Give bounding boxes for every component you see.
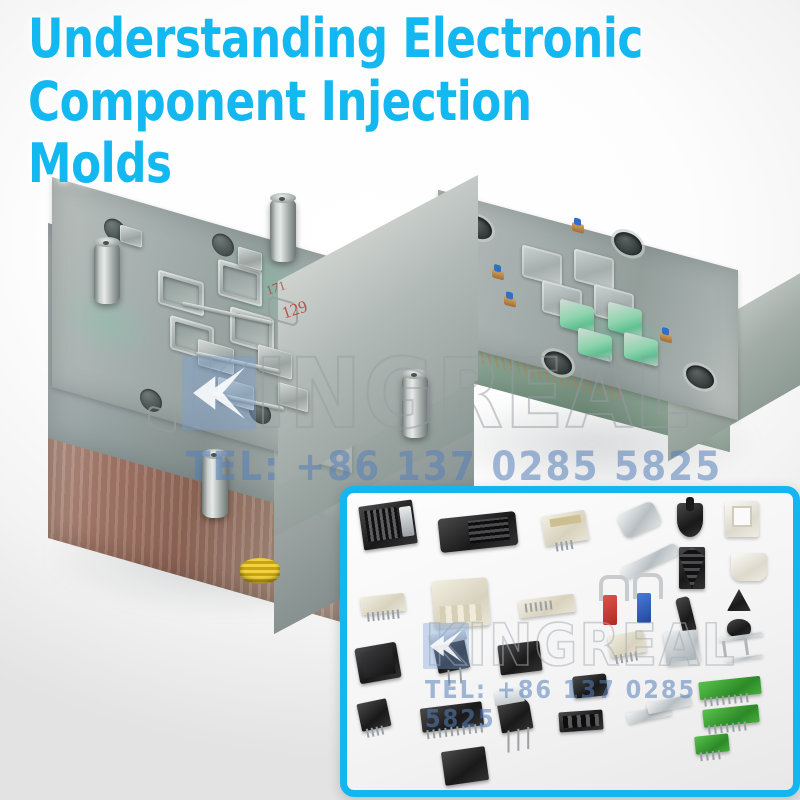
to-263-power-transistor-icon bbox=[432, 634, 470, 674]
black-smd-package-icon bbox=[497, 641, 542, 676]
guide-bushing-bore bbox=[686, 362, 714, 392]
page-title: Understanding Electronic Component Injec… bbox=[28, 8, 685, 196]
mold-slider bbox=[258, 344, 292, 380]
black-christmas-tree-fastener-icon bbox=[679, 547, 705, 589]
ivory-right-angle-header-icon bbox=[541, 510, 589, 547]
black-push-rivet-icon bbox=[677, 503, 703, 537]
sop-small-outline-ic-icon bbox=[356, 698, 391, 732]
to-220-voltage-regulator-icon bbox=[496, 696, 533, 733]
mold-core-insert bbox=[624, 332, 658, 367]
black-3-pin-housing-icon bbox=[558, 709, 603, 732]
black-multi-pin-connector-icon bbox=[358, 499, 418, 550]
ivory-ribbon-connector-icon bbox=[360, 593, 406, 616]
white-tapered-plug-icon bbox=[731, 553, 767, 581]
metal-bracket-pins-icon bbox=[744, 639, 749, 655]
green-terminal-block-10-pin-icon bbox=[698, 676, 762, 700]
metal-bracket-pins-icon bbox=[722, 641, 727, 657]
black-sleeve-spacer-icon bbox=[675, 596, 697, 634]
green-terminal-block-8-pin-icon bbox=[702, 704, 760, 728]
black-cone-cap-icon bbox=[727, 589, 751, 611]
mold-cavity bbox=[158, 269, 204, 316]
guide-pillar bbox=[270, 198, 296, 262]
mold-core-insert bbox=[578, 327, 612, 362]
metal-clip-fastener-icon bbox=[615, 500, 662, 540]
yellow-spring bbox=[240, 558, 280, 584]
dowel-hole bbox=[212, 231, 234, 259]
guide-pillar bbox=[202, 454, 228, 518]
water-fitting bbox=[504, 295, 516, 307]
ivory-wire-to-board-header-icon bbox=[518, 594, 576, 619]
poster-canvas: 171 129 bbox=[0, 0, 800, 800]
qfp-integrated-circuit-icon bbox=[441, 746, 489, 786]
component-collage bbox=[347, 493, 793, 790]
guide-pillar bbox=[94, 242, 120, 304]
guide-pillar bbox=[402, 374, 428, 438]
white-u-clip-icon bbox=[725, 501, 759, 537]
black-rectangular-connector-housing-icon bbox=[437, 511, 518, 553]
metal-bracket-pins-icon bbox=[725, 654, 763, 662]
black-3-pin-housing-icon bbox=[572, 673, 608, 698]
ivory-latch-housing-icon bbox=[431, 577, 490, 629]
guide-bushing-bore bbox=[614, 229, 642, 259]
electronic-components-inset: KINGREAL TEL: +86 137 0285 5825 bbox=[340, 486, 800, 797]
mold-slider bbox=[120, 224, 142, 247]
water-fitting bbox=[492, 268, 504, 280]
water-fitting bbox=[660, 331, 672, 343]
soic-wide-ic-icon bbox=[420, 701, 484, 732]
micro-sd-card-socket-icon bbox=[663, 629, 700, 666]
blue-spade-terminal-icon bbox=[637, 593, 651, 623]
qfp-integrated-circuit-icon bbox=[354, 642, 402, 685]
white-pin-header-icon bbox=[607, 630, 646, 658]
water-fitting bbox=[572, 222, 584, 234]
red-spade-terminal-icon bbox=[603, 595, 617, 625]
green-terminal-block-4-pin-icon bbox=[694, 733, 730, 754]
